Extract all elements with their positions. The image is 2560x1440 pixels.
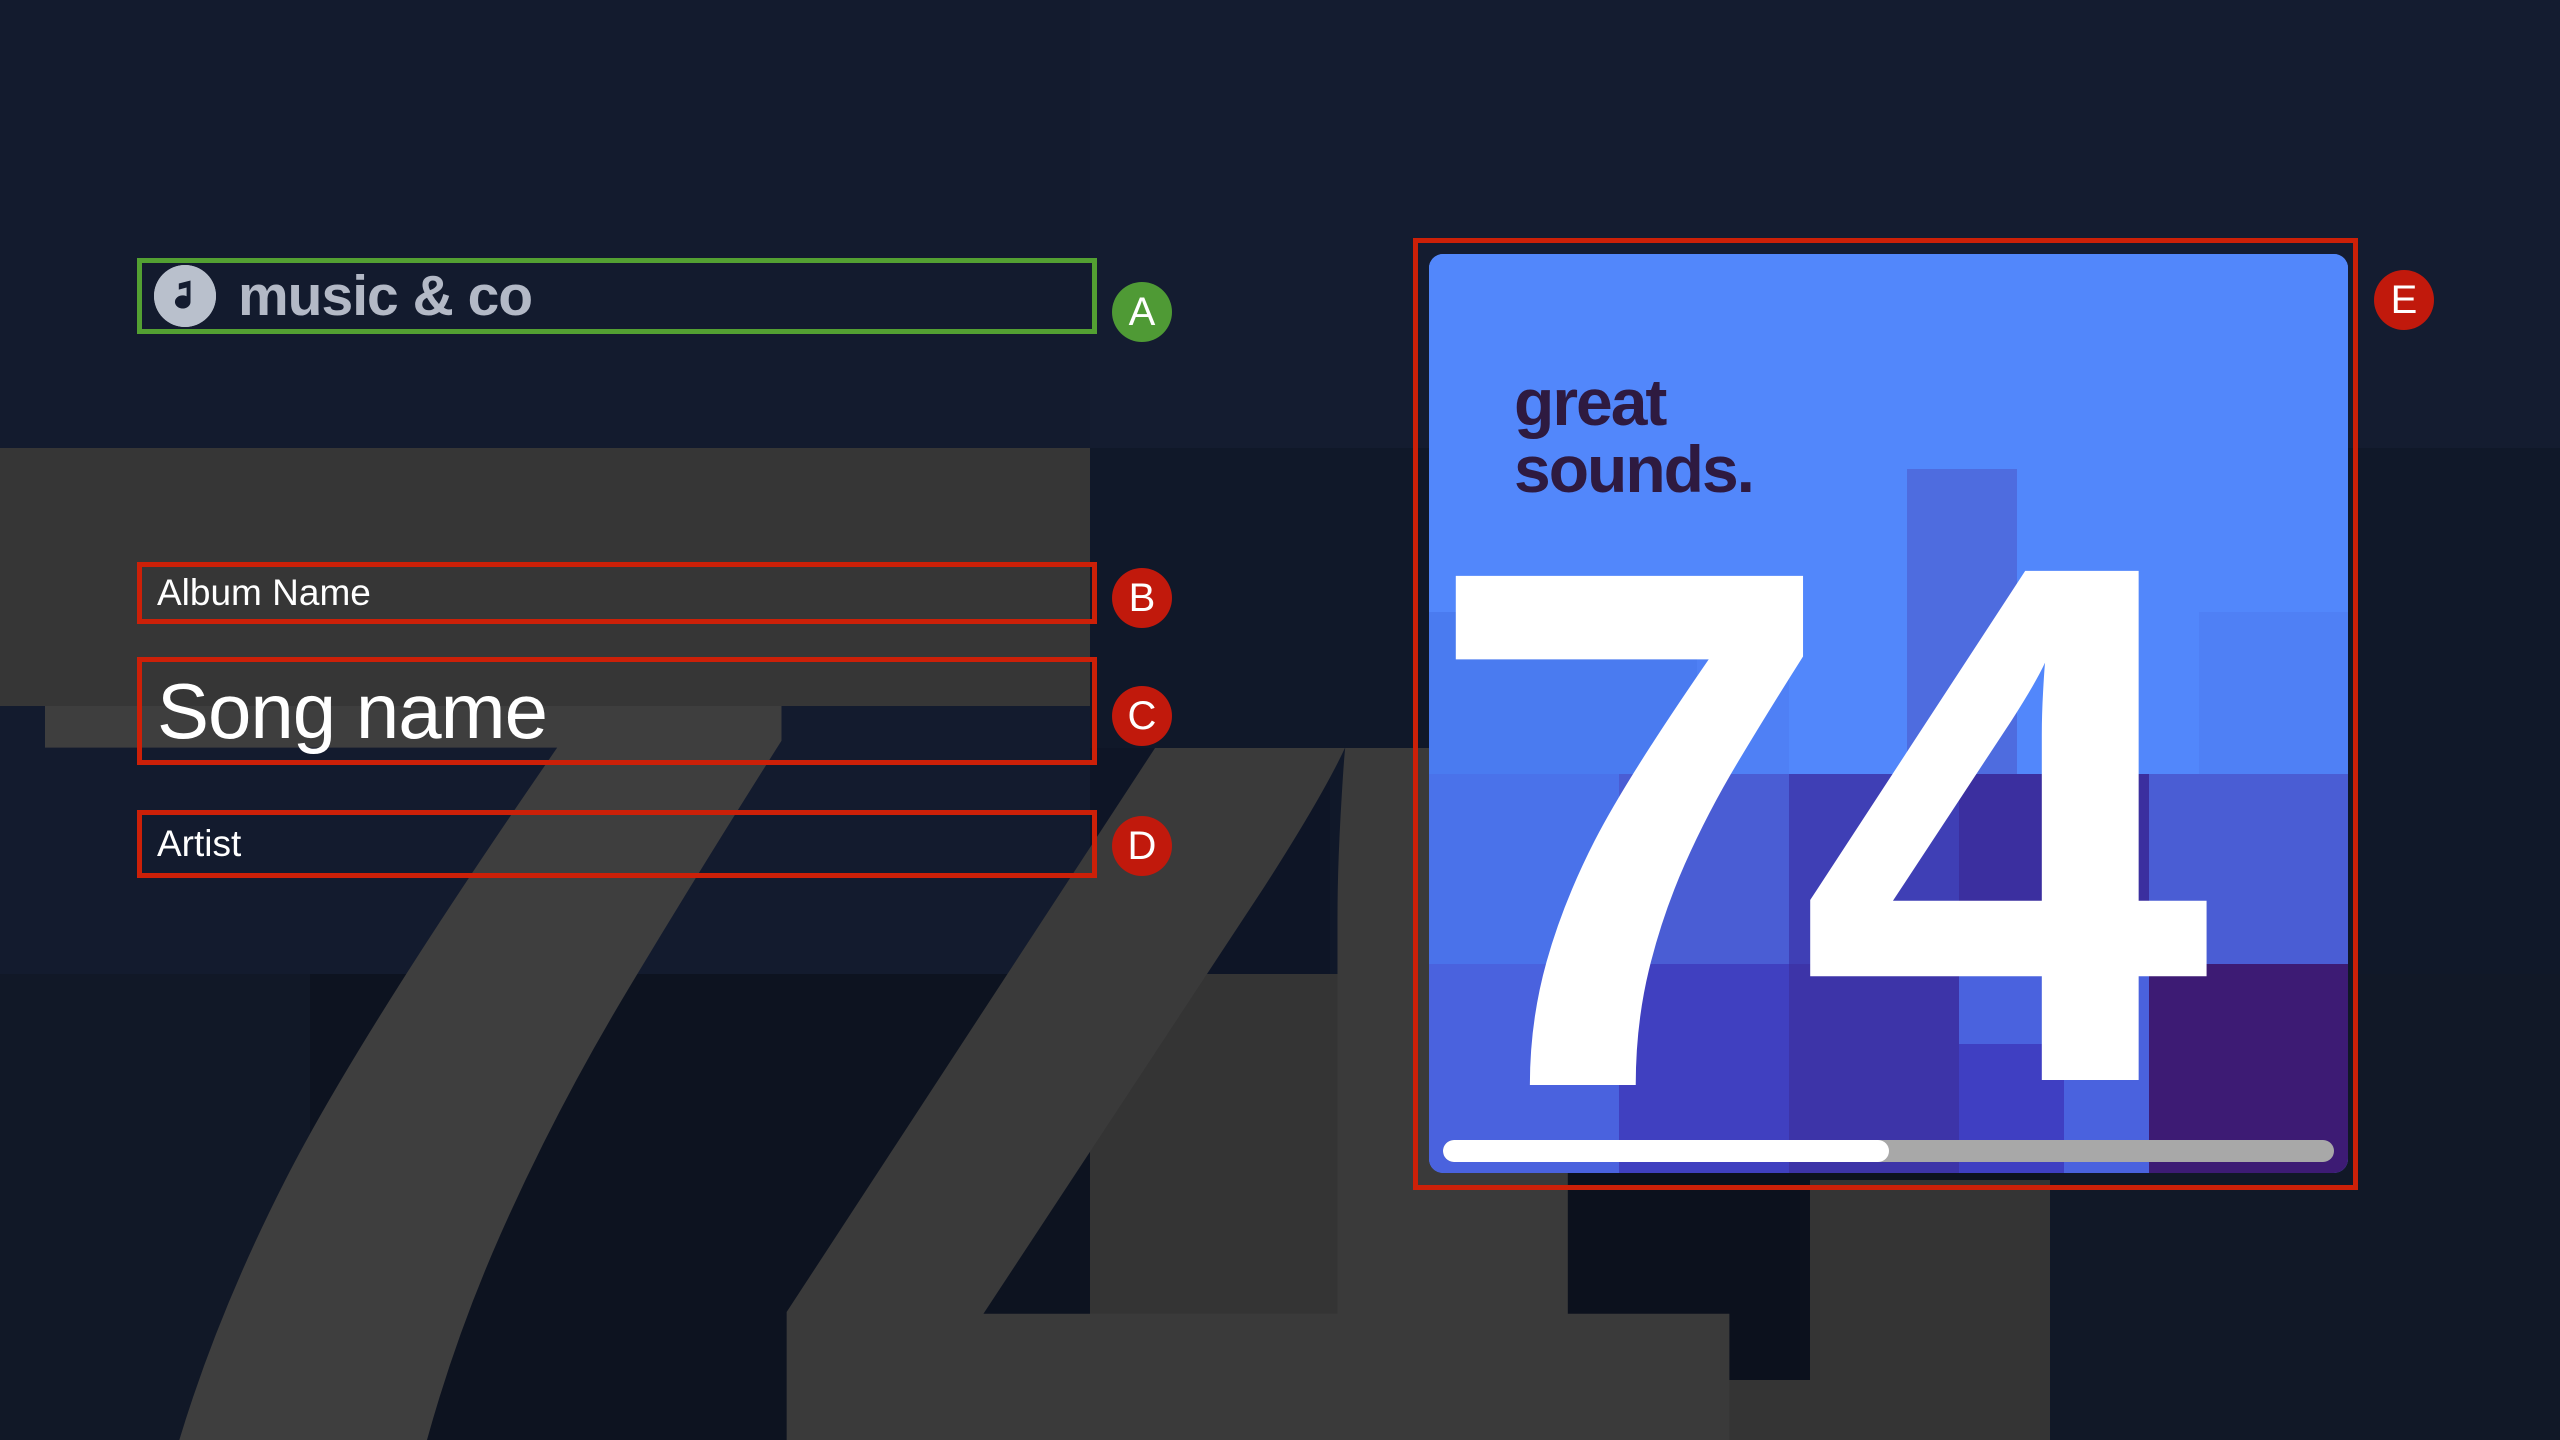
bg-tile (1810, 1180, 2050, 1440)
now-playing-panel: music & co Album Name Song name Artist (0, 0, 1200, 1440)
song-name-text: Song name (137, 666, 547, 757)
playback-progress-fill (1443, 1140, 1889, 1162)
brand-logo[interactable]: music & co (137, 258, 1097, 334)
art-tile (2199, 612, 2348, 774)
album-art[interactable]: great sounds. 7 4 (1429, 254, 2348, 1173)
music-note-icon (154, 265, 216, 327)
album-name[interactable]: Album Name (137, 562, 1097, 624)
annotation-marker-a: A (1112, 282, 1172, 342)
song-name[interactable]: Song name (137, 657, 1097, 765)
app-screen: 7 4 music & co Album Name Song name (0, 0, 2560, 1440)
art-digit-4: 4 (1799, 454, 2201, 1173)
art-headline: great sounds. (1514, 369, 1753, 504)
annotation-marker-e: E (2374, 270, 2434, 330)
artist-name-text: Artist (137, 823, 241, 865)
annotation-marker-d: D (1112, 816, 1172, 876)
brand-name: music & co (238, 268, 532, 325)
annotation-marker-c: C (1112, 686, 1172, 746)
playback-progress-bar[interactable] (1443, 1140, 2334, 1162)
artist-name[interactable]: Artist (137, 810, 1097, 878)
art-digit-7: 7 (1429, 459, 1826, 1173)
album-name-text: Album Name (137, 572, 371, 614)
annotation-marker-b: B (1112, 568, 1172, 628)
